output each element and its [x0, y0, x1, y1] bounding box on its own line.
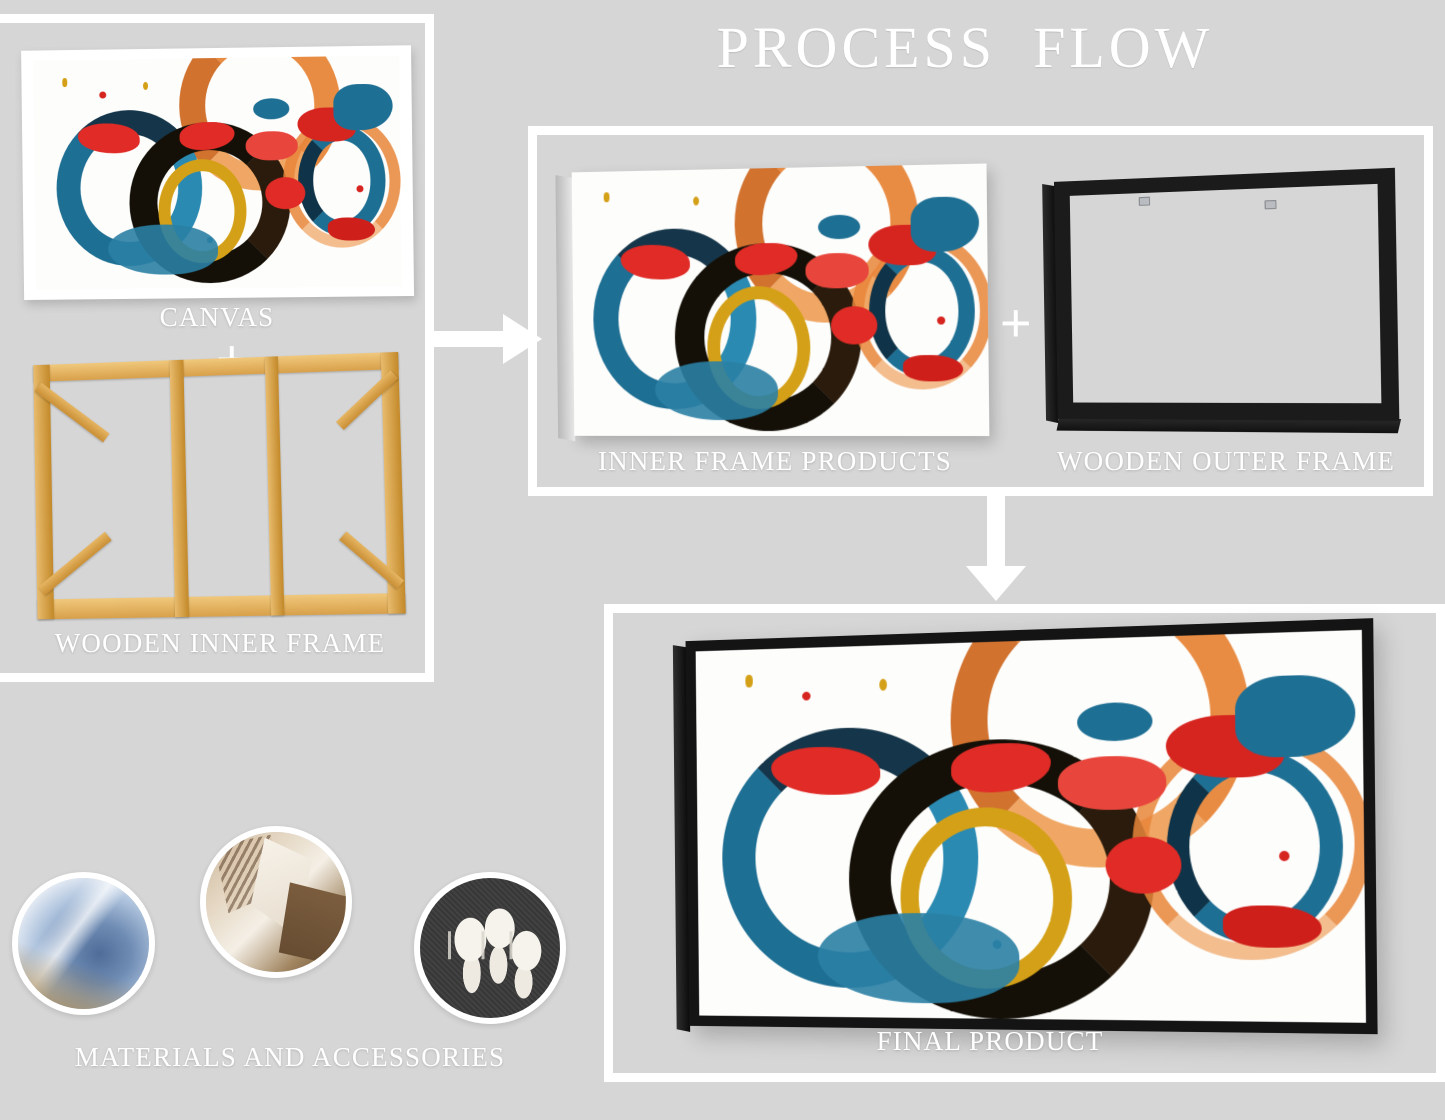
wooden-inner-frame-image: [33, 352, 406, 619]
plus-operator-middle-group: +: [1000, 296, 1032, 350]
final-product-image: [686, 618, 1378, 1034]
accessory-wall-hooks: [414, 872, 566, 1024]
abstract-artwork-canvas: [33, 55, 402, 289]
abstract-artwork-stretched: [572, 163, 990, 436]
caption-materials-and-accessories: MATERIALS AND ACCESSORIES: [10, 1042, 570, 1073]
arrow-down-icon: [965, 492, 1027, 602]
infographic-stage: PROCESS FLOW: [0, 0, 1445, 1120]
page-title: PROCESS FLOW: [615, 14, 1315, 81]
abstract-artwork-final: [696, 630, 1366, 1023]
wooden-outer-frame-image: [1054, 168, 1400, 421]
canvas-print-image: [21, 45, 414, 300]
accessory-protective-film: [12, 872, 155, 1015]
arrow-right-icon: [425, 310, 543, 368]
accessory-corner-protector: [200, 826, 352, 978]
inner-frame-product-image: [572, 163, 990, 436]
